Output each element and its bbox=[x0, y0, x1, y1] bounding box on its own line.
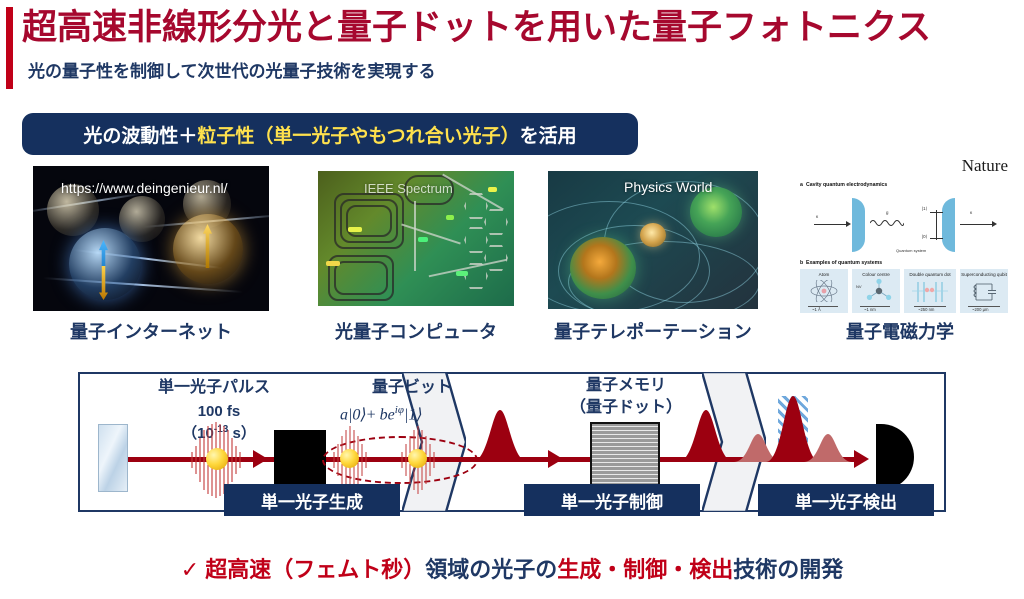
quantum-system-scale: ~1 nm bbox=[864, 307, 876, 312]
thumbnail-nature-qed: Nature a Cavity quantum electrodynamics … bbox=[790, 156, 1012, 316]
cavity-coupling-label: g bbox=[886, 210, 888, 215]
cavity-wave-icon bbox=[870, 218, 904, 228]
beam-peak bbox=[678, 408, 734, 462]
pulse-duration: 100 fs bbox=[174, 402, 264, 421]
process-diagram: 単一光子パルス 100 fs （10-13 s） 量子ビット a|0⟩+ bei… bbox=[78, 372, 946, 512]
photon-sphere bbox=[206, 448, 228, 470]
conclusion-check-icon: ✓ bbox=[181, 557, 206, 582]
quantum-dot-memory bbox=[590, 422, 660, 488]
beam-arrow bbox=[548, 450, 563, 468]
thumbnail-caption: 光量子コンピュータ bbox=[303, 318, 529, 344]
double-quantum-dot-icon bbox=[912, 278, 948, 304]
beam-arrow bbox=[854, 450, 869, 468]
title-accent-bar bbox=[6, 7, 13, 89]
panel-a-label: a bbox=[800, 182, 803, 188]
thumbnail-watermark: IEEE Spectrum bbox=[364, 181, 453, 196]
photon-sphere bbox=[340, 449, 359, 468]
conclusion-part4: 技術の開発 bbox=[733, 557, 843, 582]
superconducting-qubit-icon bbox=[968, 280, 1000, 304]
banner-text-before: 光の波動性＋ bbox=[83, 121, 197, 148]
cavity-state-zero-label: |0⟩ bbox=[922, 234, 927, 240]
photon-sphere bbox=[408, 449, 427, 468]
beam-side-peak bbox=[804, 432, 852, 462]
pulse-title: 単一光子パルス bbox=[124, 378, 304, 397]
panel-b-label: b bbox=[800, 260, 803, 266]
stage-label-generation: 単一光子生成 bbox=[224, 484, 400, 516]
optical-modulator bbox=[274, 430, 326, 486]
atom-icon bbox=[810, 280, 838, 302]
banner-text-highlight: 粒子性（単一光子やもつれ合い光子） bbox=[197, 121, 519, 148]
quantum-system-name: Double quantum dot bbox=[904, 272, 956, 277]
banner-text-after: を活用 bbox=[520, 121, 577, 148]
conclusion-part3: 生成・制御・検出 bbox=[557, 557, 733, 582]
cavity-output-label: κ bbox=[970, 210, 972, 215]
colour-centre-icon bbox=[864, 278, 894, 304]
quantum-system-scale: ~200 µm bbox=[972, 307, 989, 312]
colour-centre-inner-label: NV bbox=[856, 284, 862, 289]
thumbnail-caption: 量子テレポーテーション bbox=[538, 318, 768, 344]
key-message-banner: 光の波動性＋粒子性（単一光子やもつれ合い光子）を活用 bbox=[22, 113, 638, 155]
quantum-system-scale: ~1 Å bbox=[812, 307, 821, 312]
memory-title: 量子メモリ bbox=[526, 376, 726, 395]
thumbnail-photonic-computer: IEEE Spectrum bbox=[318, 171, 514, 306]
thumbnail-watermark: Physics World bbox=[624, 179, 712, 195]
quantum-system-scale: ~250 nm bbox=[918, 307, 934, 312]
cavity-system-label: Quantum system bbox=[896, 248, 926, 253]
thumbnail-caption: 量子インターネット bbox=[33, 318, 269, 344]
thumbnail-teleportation: Physics World bbox=[548, 171, 758, 309]
panel-b-title: Examples of quantum systems bbox=[806, 260, 882, 266]
slide-root: 超高速非線形分光と量子ドットを用いた量子フォトニクス 光の量子性を制御して次世代… bbox=[0, 0, 1024, 599]
thumbnail-row: https://www.deingenieur.nl/ IEE bbox=[0, 166, 1024, 346]
page-subtitle: 光の量子性を制御して次世代の光量子技術を実現する bbox=[28, 57, 436, 82]
qubit-title: 量子ビット bbox=[332, 378, 492, 397]
quantum-system-name: Superconducting qubit bbox=[960, 272, 1008, 277]
quantum-system-name: Colour centre bbox=[852, 272, 900, 277]
cavity-input-label: κ bbox=[816, 214, 818, 219]
cavity-state-one-label: |1⟩ bbox=[922, 206, 927, 212]
stage-label-detection: 単一光子検出 bbox=[758, 484, 934, 516]
panel-a-title: Cavity quantum electrodynamics bbox=[806, 182, 887, 188]
thumbnail-watermark: https://www.deingenieur.nl/ bbox=[61, 180, 228, 196]
conclusion-line: ✓ 超高速（フェムト秒）領域の光子の生成・制御・検出技術の開発 bbox=[0, 552, 1024, 584]
nature-source-label: Nature bbox=[962, 156, 1008, 176]
beam-arrow bbox=[253, 450, 268, 468]
conclusion-part2: 領域の光子の bbox=[425, 557, 557, 582]
thumbnail-quantum-internet: https://www.deingenieur.nl/ bbox=[33, 166, 269, 311]
qubit-formula: a|0⟩+ beiφ|1⟩ bbox=[340, 404, 423, 424]
quantum-system-name: Atom bbox=[800, 272, 848, 277]
conclusion-part1: 超高速（フェムト秒） bbox=[205, 557, 425, 582]
beam-peak bbox=[472, 408, 528, 462]
source-crystal bbox=[98, 424, 128, 492]
page-title: 超高速非線形分光と量子ドットを用いた量子フォトニクス bbox=[22, 6, 1002, 50]
stage-label-control: 単一光子制御 bbox=[524, 484, 700, 516]
thumbnail-caption: 量子電磁力学 bbox=[800, 318, 1000, 344]
